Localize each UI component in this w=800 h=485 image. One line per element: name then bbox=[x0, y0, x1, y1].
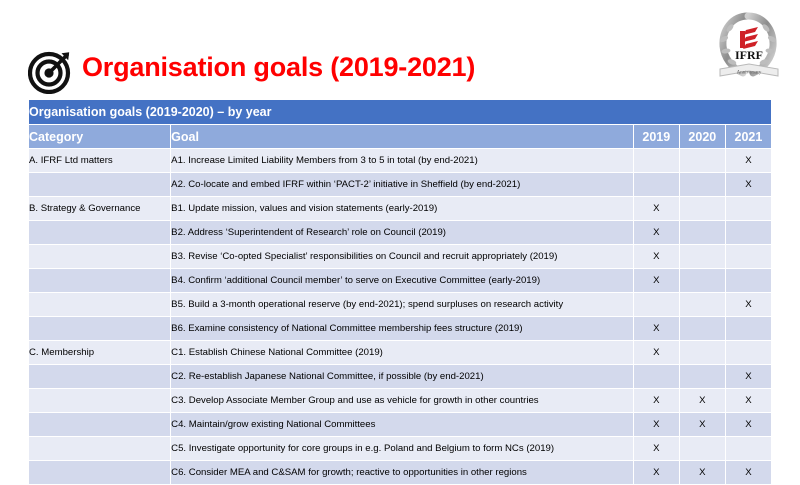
cell-goal: C4. Maintain/grow existing National Comm… bbox=[171, 413, 634, 437]
cell-goal: C2. Re-establish Japanese National Commi… bbox=[171, 365, 634, 389]
cell-year-2019: X bbox=[633, 269, 679, 293]
cell-year-2019: X bbox=[633, 341, 679, 365]
column-header-2020[interactable]: 2020 bbox=[679, 125, 725, 149]
table-row[interactable]: C3. Develop Associate Member Group and u… bbox=[29, 389, 772, 413]
cell-year-2021: X bbox=[725, 413, 771, 437]
cell-category: A. IFRF Ltd matters bbox=[29, 149, 171, 173]
cell-year-2021 bbox=[725, 269, 771, 293]
cell-year-2020 bbox=[679, 173, 725, 197]
target-bullseye-arrow-icon bbox=[28, 48, 74, 94]
cell-goal: B4. Confirm ‘additional Council member’ … bbox=[171, 269, 634, 293]
cell-year-2019: X bbox=[633, 413, 679, 437]
cell-category bbox=[29, 461, 171, 485]
cell-year-2021 bbox=[725, 317, 771, 341]
cell-category bbox=[29, 389, 171, 413]
cell-year-2019 bbox=[633, 173, 679, 197]
slide-header: Organisation goals (2019-2021) bbox=[0, 0, 800, 98]
cell-year-2019: X bbox=[633, 197, 679, 221]
cell-year-2019 bbox=[633, 293, 679, 317]
cell-year-2019: X bbox=[633, 221, 679, 245]
cell-year-2020: X bbox=[679, 389, 725, 413]
ifrf-logo: IFRF Anniversary bbox=[712, 6, 786, 84]
cell-year-2019: X bbox=[633, 461, 679, 485]
table-row[interactable]: C. MembershipC1. Establish Chinese Natio… bbox=[29, 341, 772, 365]
cell-year-2021 bbox=[725, 437, 771, 461]
organisation-goals-table: Organisation goals (2019-2020) – by year… bbox=[28, 99, 772, 485]
cell-goal: B3. Revise ‘Co-opted Specialist’ respons… bbox=[171, 245, 634, 269]
cell-category bbox=[29, 221, 171, 245]
cell-year-2019: X bbox=[633, 245, 679, 269]
cell-year-2021: X bbox=[725, 365, 771, 389]
cell-year-2020 bbox=[679, 149, 725, 173]
cell-category bbox=[29, 269, 171, 293]
cell-goal: B6. Examine consistency of National Comm… bbox=[171, 317, 634, 341]
table-row[interactable]: C2. Re-establish Japanese National Commi… bbox=[29, 365, 772, 389]
cell-goal: B5. Build a 3-month operational reserve … bbox=[171, 293, 634, 317]
table-body: A. IFRF Ltd mattersA1. Increase Limited … bbox=[29, 149, 772, 485]
cell-category bbox=[29, 365, 171, 389]
cell-goal: B1. Update mission, values and vision st… bbox=[171, 197, 634, 221]
cell-goal: A1. Increase Limited Liability Members f… bbox=[171, 149, 634, 173]
cell-year-2020 bbox=[679, 245, 725, 269]
cell-year-2021 bbox=[725, 341, 771, 365]
table-row[interactable]: B. Strategy & GovernanceB1. Update missi… bbox=[29, 197, 772, 221]
table-row[interactable]: B6. Examine consistency of National Comm… bbox=[29, 317, 772, 341]
cell-year-2021: X bbox=[725, 173, 771, 197]
column-header-2021[interactable]: 2021 bbox=[725, 125, 771, 149]
cell-year-2020: X bbox=[679, 413, 725, 437]
cell-goal: B2. Address ‘Superintendent of Research’… bbox=[171, 221, 634, 245]
cell-category bbox=[29, 245, 171, 269]
svg-text:IFRF: IFRF bbox=[735, 48, 763, 62]
cell-category bbox=[29, 317, 171, 341]
cell-year-2021: X bbox=[725, 149, 771, 173]
cell-goal: C3. Develop Associate Member Group and u… bbox=[171, 389, 634, 413]
cell-year-2021 bbox=[725, 221, 771, 245]
cell-category: B. Strategy & Governance bbox=[29, 197, 171, 221]
cell-year-2020 bbox=[679, 293, 725, 317]
table-banner-title: Organisation goals (2019-2020) – by year bbox=[29, 100, 772, 125]
cell-year-2020 bbox=[679, 437, 725, 461]
cell-year-2020 bbox=[679, 365, 725, 389]
cell-year-2021 bbox=[725, 197, 771, 221]
column-header-category[interactable]: Category bbox=[29, 125, 171, 149]
table-row[interactable]: A2. Co-locate and embed IFRF within ‘PAC… bbox=[29, 173, 772, 197]
column-header-2019[interactable]: 2019 bbox=[633, 125, 679, 149]
cell-year-2021 bbox=[725, 245, 771, 269]
cell-category: C. Membership bbox=[29, 341, 171, 365]
cell-year-2021: X bbox=[725, 461, 771, 485]
cell-year-2020 bbox=[679, 197, 725, 221]
cell-year-2020 bbox=[679, 317, 725, 341]
cell-goal: C1. Establish Chinese National Committee… bbox=[171, 341, 634, 365]
cell-category bbox=[29, 437, 171, 461]
table-row[interactable]: A. IFRF Ltd mattersA1. Increase Limited … bbox=[29, 149, 772, 173]
svg-text:Anniversary: Anniversary bbox=[737, 71, 762, 76]
cell-year-2021: X bbox=[725, 389, 771, 413]
table-row[interactable]: C5. Investigate opportunity for core gro… bbox=[29, 437, 772, 461]
table-row[interactable]: C4. Maintain/grow existing National Comm… bbox=[29, 413, 772, 437]
cell-category bbox=[29, 293, 171, 317]
cell-year-2019: X bbox=[633, 317, 679, 341]
cell-year-2019: X bbox=[633, 389, 679, 413]
cell-year-2020: X bbox=[679, 461, 725, 485]
cell-year-2020 bbox=[679, 221, 725, 245]
cell-year-2019 bbox=[633, 149, 679, 173]
cell-year-2019: X bbox=[633, 437, 679, 461]
table-header-row: Category Goal 2019 2020 2021 bbox=[29, 125, 772, 149]
cell-year-2020 bbox=[679, 341, 725, 365]
cell-goal: C6. Consider MEA and C&SAM for growth; r… bbox=[171, 461, 634, 485]
table-row[interactable]: C6. Consider MEA and C&SAM for growth; r… bbox=[29, 461, 772, 485]
table-row[interactable]: B4. Confirm ‘additional Council member’ … bbox=[29, 269, 772, 293]
cell-year-2021: X bbox=[725, 293, 771, 317]
cell-year-2019 bbox=[633, 365, 679, 389]
page-title: Organisation goals (2019-2021) bbox=[82, 50, 475, 84]
cell-goal: A2. Co-locate and embed IFRF within ‘PAC… bbox=[171, 173, 634, 197]
table-banner-row: Organisation goals (2019-2020) – by year bbox=[29, 100, 772, 125]
cell-category bbox=[29, 413, 171, 437]
table-row[interactable]: B3. Revise ‘Co-opted Specialist’ respons… bbox=[29, 245, 772, 269]
cell-year-2020 bbox=[679, 269, 725, 293]
column-header-goal[interactable]: Goal bbox=[171, 125, 634, 149]
table-row[interactable]: B5. Build a 3-month operational reserve … bbox=[29, 293, 772, 317]
cell-category bbox=[29, 173, 171, 197]
cell-goal: C5. Investigate opportunity for core gro… bbox=[171, 437, 634, 461]
table-row[interactable]: B2. Address ‘Superintendent of Research’… bbox=[29, 221, 772, 245]
